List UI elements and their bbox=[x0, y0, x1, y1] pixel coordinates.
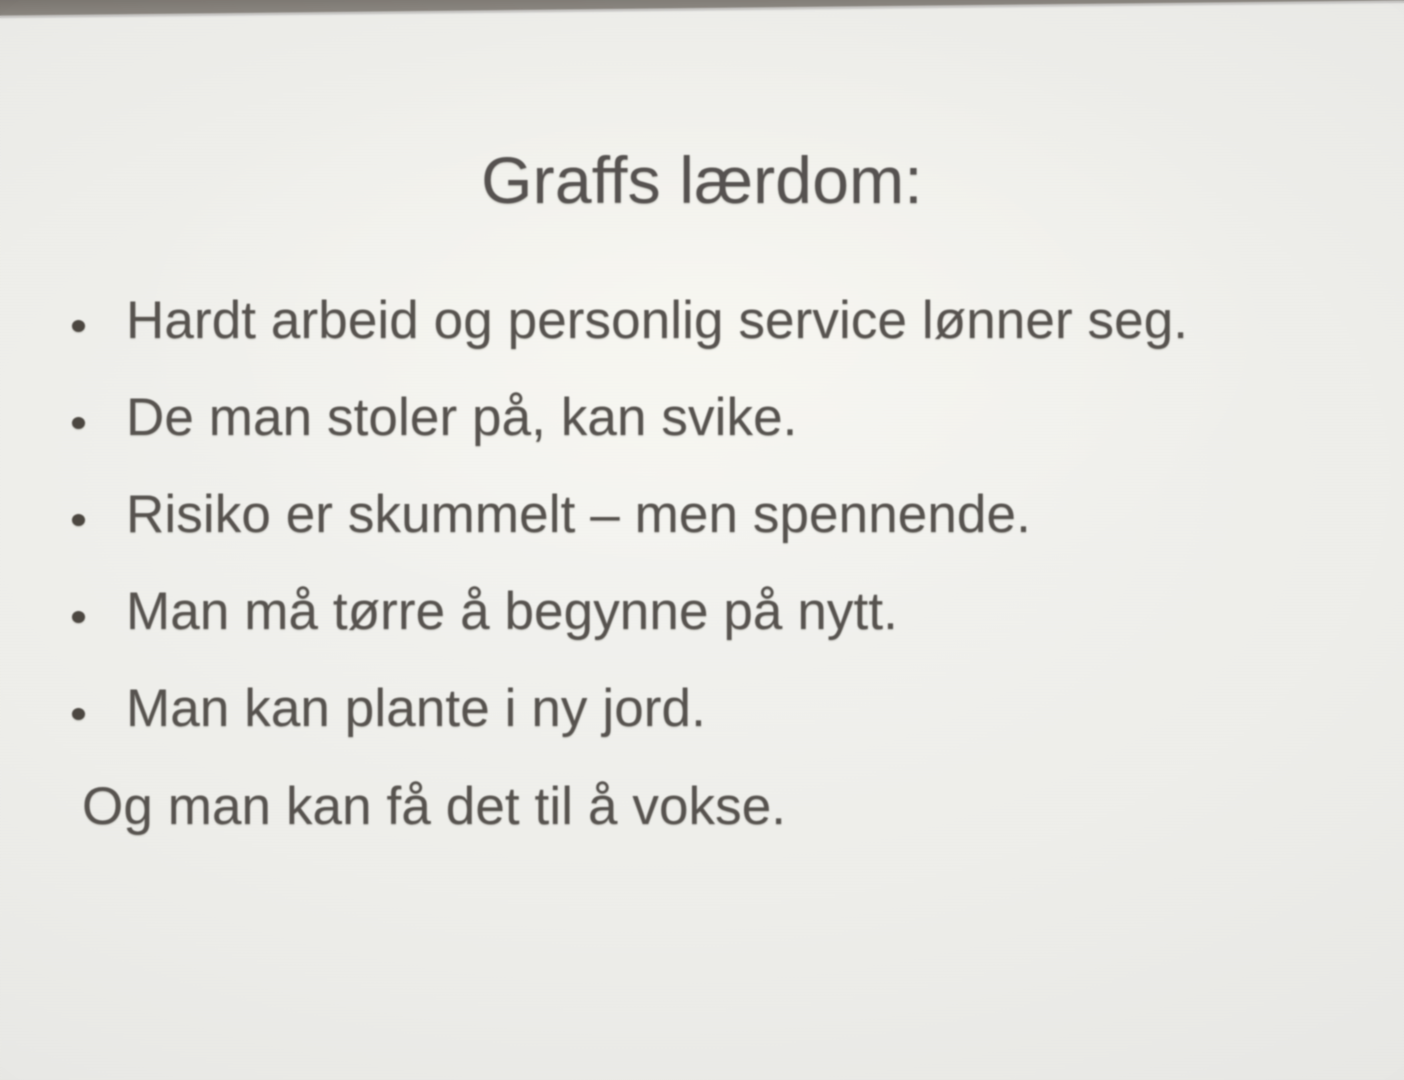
bullet-item-4-label: Man må tørre å begynne på nytt. bbox=[126, 583, 898, 640]
bullet-item-5: Man kan plante i ny jord. bbox=[0, 680, 1404, 777]
bullet-item-3: Risiko er skummelt – men spennende. bbox=[0, 486, 1404, 583]
bullet-item-4: Man må tørre å begynne på nytt. bbox=[0, 583, 1404, 680]
bullet-dot-icon bbox=[72, 611, 85, 623]
closing-line: Og man kan få det til å vokse. bbox=[82, 778, 786, 835]
bullet-dot-icon bbox=[72, 514, 85, 526]
bullet-item-2: De man stoler på, kan svike. bbox=[0, 389, 1404, 486]
bullet-item-2-label: De man stoler på, kan svike. bbox=[126, 389, 798, 446]
slide-content: Graffs lærdom: Hardt arbeid og personlig… bbox=[0, 0, 1404, 1080]
bullet-item-3-label: Risiko er skummelt – men spennende. bbox=[126, 486, 1031, 543]
bullet-dot-icon bbox=[72, 320, 85, 332]
bullet-dot-icon bbox=[72, 708, 85, 720]
bullet-dot-icon bbox=[72, 417, 85, 429]
bullet-item-1: Hardt arbeid og personlig service lønner… bbox=[0, 292, 1404, 389]
slide-title: Graffs lærdom: bbox=[0, 147, 1404, 213]
bullet-item-5-label: Man kan plante i ny jord. bbox=[126, 680, 706, 737]
bullet-list: Hardt arbeid og personlig service lønner… bbox=[0, 292, 1404, 777]
bullet-item-1-label: Hardt arbeid og personlig service lønner… bbox=[126, 292, 1188, 349]
projected-slide-photo: Graffs lærdom: Hardt arbeid og personlig… bbox=[0, 0, 1404, 1080]
